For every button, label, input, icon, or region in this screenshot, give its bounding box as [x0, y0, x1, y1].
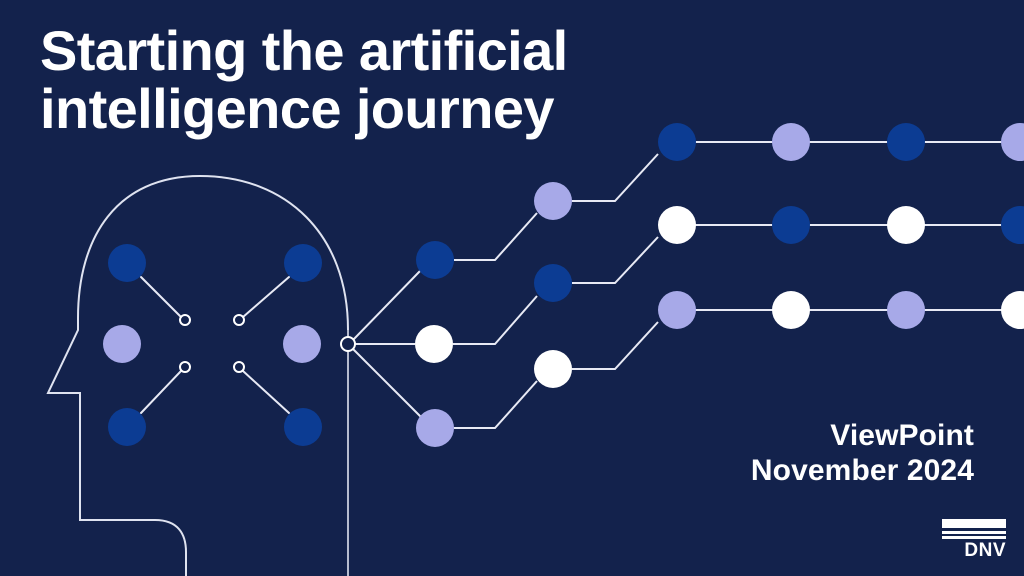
publication-meta: ViewPoint November 2024: [751, 418, 974, 489]
brain-node: [283, 325, 321, 363]
hub-node: [341, 337, 355, 351]
network-node: [772, 291, 810, 329]
logo-bar-thin-upper: [942, 531, 1006, 534]
brain-node: [108, 408, 146, 446]
network-node: [658, 206, 696, 244]
publication-series-label: ViewPoint: [751, 418, 974, 453]
brain-node: [284, 244, 322, 282]
brain-node: [103, 325, 141, 363]
network-node: [658, 291, 696, 329]
branch-node: [534, 264, 572, 302]
branch-node: [415, 325, 453, 363]
network-node: [887, 123, 925, 161]
network-node: [772, 123, 810, 161]
branch-node: [534, 350, 572, 388]
publication-date-label: November 2024: [751, 453, 974, 488]
logo-bar-thick: [942, 519, 1006, 528]
logo-wordmark: DNV: [934, 540, 1006, 562]
page-title: Starting the artificial intelligence jou…: [40, 22, 680, 138]
network-node: [772, 206, 810, 244]
dnv-logo: DNV: [934, 519, 1006, 563]
branch-node: [416, 409, 454, 447]
viewpoint-title-slide: Starting the artificial intelligence jou…: [0, 0, 1024, 576]
brain-node: [108, 244, 146, 282]
logo-bar-thin-lower: [942, 536, 1006, 539]
network-node: [887, 291, 925, 329]
branch-node: [416, 241, 454, 279]
branch-node: [534, 182, 572, 220]
network-node: [887, 206, 925, 244]
brain-node: [284, 408, 322, 446]
